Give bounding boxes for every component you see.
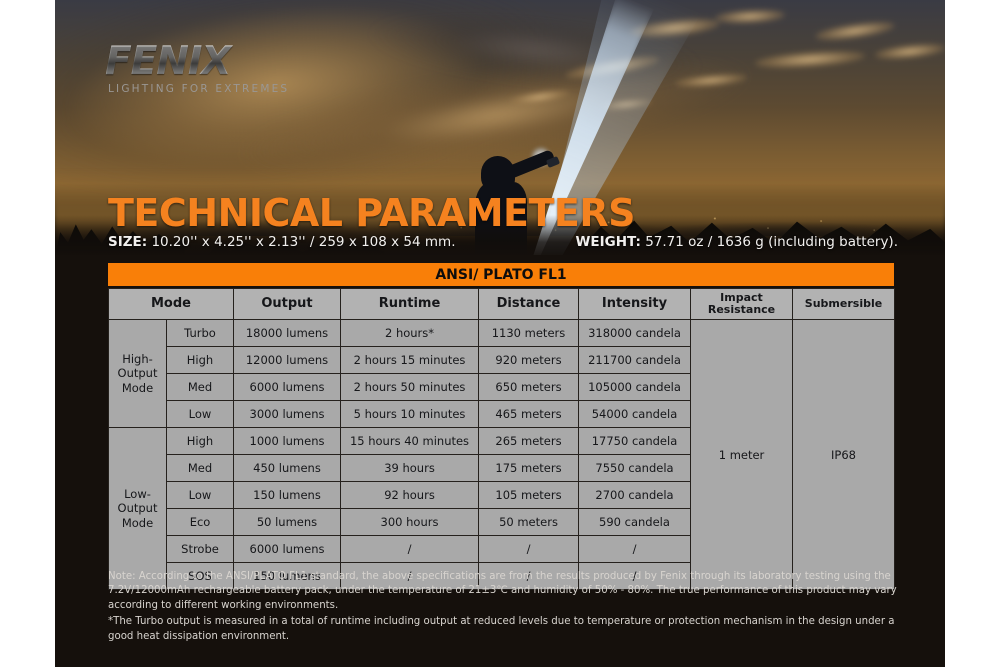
cell-mode: Eco: [167, 509, 234, 536]
weight-spec: WEIGHT: 57.71 oz / 1636 g (including bat…: [576, 234, 898, 250]
cell-output: 1000 lumens: [234, 428, 341, 455]
cell-mode: Turbo: [167, 320, 234, 347]
fenix-tagline: LIGHTING FOR EXTREMES: [108, 83, 305, 95]
cell-runtime: 5 hours 10 minutes: [341, 401, 479, 428]
header-runtime: Runtime: [341, 289, 479, 320]
cell-mode: Low: [167, 482, 234, 509]
cell-intensity: 2700 candela: [579, 482, 691, 509]
cell-runtime: 92 hours: [341, 482, 479, 509]
group-label-line1: Low-: [124, 487, 151, 501]
cell-distance: 1130 meters: [479, 320, 579, 347]
cell-output: 12000 lumens: [234, 347, 341, 374]
cell-intensity: 211700 candela: [579, 347, 691, 374]
cell-intensity: 590 candela: [579, 509, 691, 536]
cloud-wisp: [715, 8, 786, 25]
header-submersible: Submersible: [793, 289, 895, 320]
cell-output: 50 lumens: [234, 509, 341, 536]
footnote-turbo: *The Turbo output is measured in a total…: [108, 615, 898, 644]
page-title: TECHNICAL PARAMETERS: [108, 194, 635, 232]
footnotes: Note: According to the ANSI/PLATO FL1 st…: [108, 570, 898, 644]
cell-mode: Med: [167, 455, 234, 482]
cell-output: 18000 lumens: [234, 320, 341, 347]
poster-page: FENIX LIGHTING FOR EXTREMES TECHNICAL PA…: [0, 0, 1000, 667]
cell-distance: 265 meters: [479, 428, 579, 455]
cell-mode: High: [167, 347, 234, 374]
header-distance: Distance: [479, 289, 579, 320]
header-impact-resistance: Impact Resistance: [691, 289, 793, 320]
fenix-wordmark: FENIX: [105, 42, 305, 81]
cell-output: 6000 lumens: [234, 374, 341, 401]
cloud-wisp: [814, 19, 895, 44]
group-label-line2: Output: [118, 366, 158, 380]
cloud-wisp: [875, 41, 945, 61]
cell-intensity: /: [579, 536, 691, 563]
table-header-row: Mode Output Runtime Distance Intensity I…: [109, 289, 895, 320]
group-label-high-output: High- Output Mode: [109, 320, 167, 428]
group-label-line3: Mode: [122, 381, 153, 395]
cell-intensity: 54000 candela: [579, 401, 691, 428]
cell-impact-resistance: 1 meter: [691, 320, 793, 590]
footnote-standard: Note: According to the ANSI/PLATO FL1 st…: [108, 570, 898, 613]
cell-runtime: 300 hours: [341, 509, 479, 536]
header-output: Output: [234, 289, 341, 320]
cell-intensity: 318000 candela: [579, 320, 691, 347]
cell-intensity: 17750 candela: [579, 428, 691, 455]
cloud-wisp: [755, 48, 866, 71]
cell-mode: Med: [167, 374, 234, 401]
group-label-line2: Output: [118, 501, 158, 515]
cell-distance: 920 meters: [479, 347, 579, 374]
cell-distance: 175 meters: [479, 455, 579, 482]
group-label-line3: Mode: [122, 516, 153, 530]
header-mode: Mode: [109, 289, 234, 320]
table-row: High- Output Mode Turbo 18000 lumens 2 h…: [109, 320, 895, 347]
cell-mode: Strobe: [167, 536, 234, 563]
weight-value: 57.71 oz / 1636 g (including battery).: [641, 234, 898, 250]
group-label-low-output: Low- Output Mode: [109, 428, 167, 590]
weight-label: WEIGHT:: [576, 234, 641, 250]
specification-table: Mode Output Runtime Distance Intensity I…: [108, 288, 895, 590]
cell-runtime: 39 hours: [341, 455, 479, 482]
cell-runtime: /: [341, 536, 479, 563]
cell-output: 6000 lumens: [234, 536, 341, 563]
fenix-logo: FENIX LIGHTING FOR EXTREMES: [105, 42, 305, 95]
cell-intensity: 7550 candela: [579, 455, 691, 482]
size-label: SIZE:: [108, 234, 147, 250]
header-intensity: Intensity: [579, 289, 691, 320]
cell-output: 3000 lumens: [234, 401, 341, 428]
header-impact-line2: Resistance: [708, 303, 775, 316]
cell-distance: /: [479, 536, 579, 563]
cell-distance: 50 meters: [479, 509, 579, 536]
cell-runtime: 2 hours*: [341, 320, 479, 347]
cell-submersible: IP68: [793, 320, 895, 590]
cell-mode: Low: [167, 401, 234, 428]
group-label-line1: High-: [122, 352, 153, 366]
cell-runtime: 2 hours 50 minutes: [341, 374, 479, 401]
cell-distance: 105 meters: [479, 482, 579, 509]
cell-distance: 465 meters: [479, 401, 579, 428]
cell-output: 450 lumens: [234, 455, 341, 482]
size-spec: SIZE: 10.20'' x 4.25'' x 2.13'' / 259 x …: [108, 234, 456, 250]
cell-distance: 650 meters: [479, 374, 579, 401]
cell-output: 150 lumens: [234, 482, 341, 509]
standard-banner: ANSI/ PLATO FL1: [108, 263, 894, 286]
table-body: High- Output Mode Turbo 18000 lumens 2 h…: [109, 320, 895, 590]
size-value: 10.20'' x 4.25'' x 2.13'' / 259 x 108 x …: [147, 234, 455, 250]
cell-mode: High: [167, 428, 234, 455]
cell-runtime: 15 hours 40 minutes: [341, 428, 479, 455]
cell-intensity: 105000 candela: [579, 374, 691, 401]
size-weight-line: SIZE: 10.20'' x 4.25'' x 2.13'' / 259 x …: [108, 234, 898, 250]
cell-runtime: 2 hours 15 minutes: [341, 347, 479, 374]
